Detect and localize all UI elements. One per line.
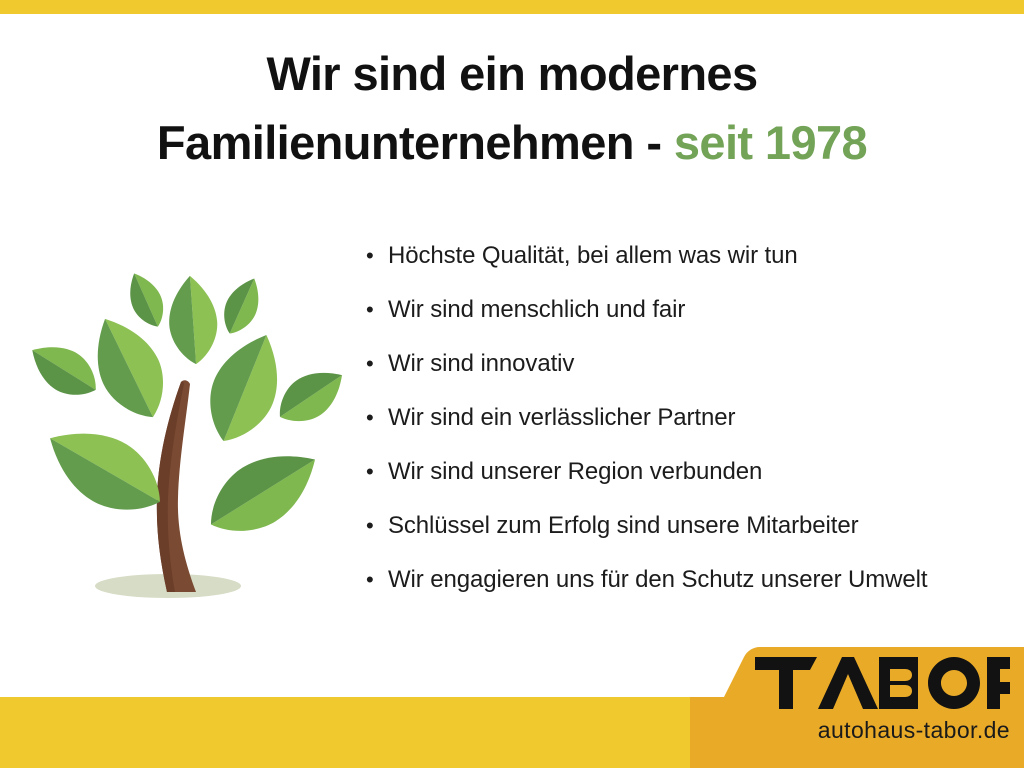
bullet-icon: •: [366, 456, 388, 488]
logo-url-text[interactable]: autohaus-tabor.de: [690, 717, 1010, 744]
tree-leaf-right-outer: [268, 358, 348, 435]
bullet-icon: •: [366, 564, 388, 596]
list-item: • Wir sind innovativ: [366, 348, 1016, 402]
list-item-label: Wir sind innovativ: [388, 348, 574, 380]
headline-accent-year: seit 1978: [674, 116, 867, 169]
tree-leaf-top-right-small: [215, 272, 268, 340]
list-item: • Höchste Qualität, bei allem was wir tu…: [366, 240, 1016, 294]
tree-leaf-top-center: [166, 274, 220, 366]
tree-leaf-lower-right: [194, 433, 331, 551]
page-title: Wir sind ein modernes Familienunternehme…: [0, 40, 1024, 177]
list-item: • Wir sind ein verlässlicher Partner: [366, 402, 1016, 456]
list-item-label: Höchste Qualität, bei allem was wir tun: [388, 240, 798, 272]
tree-leaf-left-outer: [21, 332, 107, 407]
bullet-icon: •: [366, 402, 388, 434]
tree-leaf-top-small: [120, 267, 171, 332]
list-item-label: Wir engagieren uns für den Schutz unsere…: [388, 564, 927, 596]
list-item: • Schlüssel zum Erfolg sind unsere Mitar…: [366, 510, 1016, 564]
bullet-icon: •: [366, 240, 388, 272]
bullet-icon: •: [366, 348, 388, 380]
bullet-icon: •: [366, 294, 388, 326]
value-list: • Höchste Qualität, bei allem was wir tu…: [366, 240, 1016, 618]
logo-wordmark: [755, 657, 1010, 709]
list-item: • Wir sind unserer Region verbunden: [366, 456, 1016, 510]
headline-line-1: Wir sind ein modernes: [0, 40, 1024, 109]
brand-logo[interactable]: autohaus-tabor.de: [690, 645, 1024, 768]
top-accent-band: [0, 0, 1024, 14]
tree-leaf-upper-left: [78, 306, 180, 430]
list-item-label: Wir sind unserer Region verbunden: [388, 456, 762, 488]
list-item-label: Wir sind menschlich und fair: [388, 294, 685, 326]
tree-leaf-lower-left: [34, 410, 177, 531]
list-item: • Wir engagieren uns für den Schutz unse…: [366, 564, 1016, 618]
headline-line-2: Familienunternehmen - seit 1978: [0, 109, 1024, 178]
list-item-label: Wir sind ein verlässlicher Partner: [388, 402, 735, 434]
slide-canvas: Wir sind ein modernes Familienunternehme…: [0, 0, 1024, 768]
bullet-icon: •: [366, 510, 388, 542]
list-item-label: Schlüssel zum Erfolg sind unsere Mitarbe…: [388, 510, 858, 542]
tree-illustration: [18, 248, 348, 608]
list-item: • Wir sind menschlich und fair: [366, 294, 1016, 348]
headline-line-2-main: Familienunternehmen -: [157, 116, 674, 169]
tree-trunk: [157, 380, 196, 592]
